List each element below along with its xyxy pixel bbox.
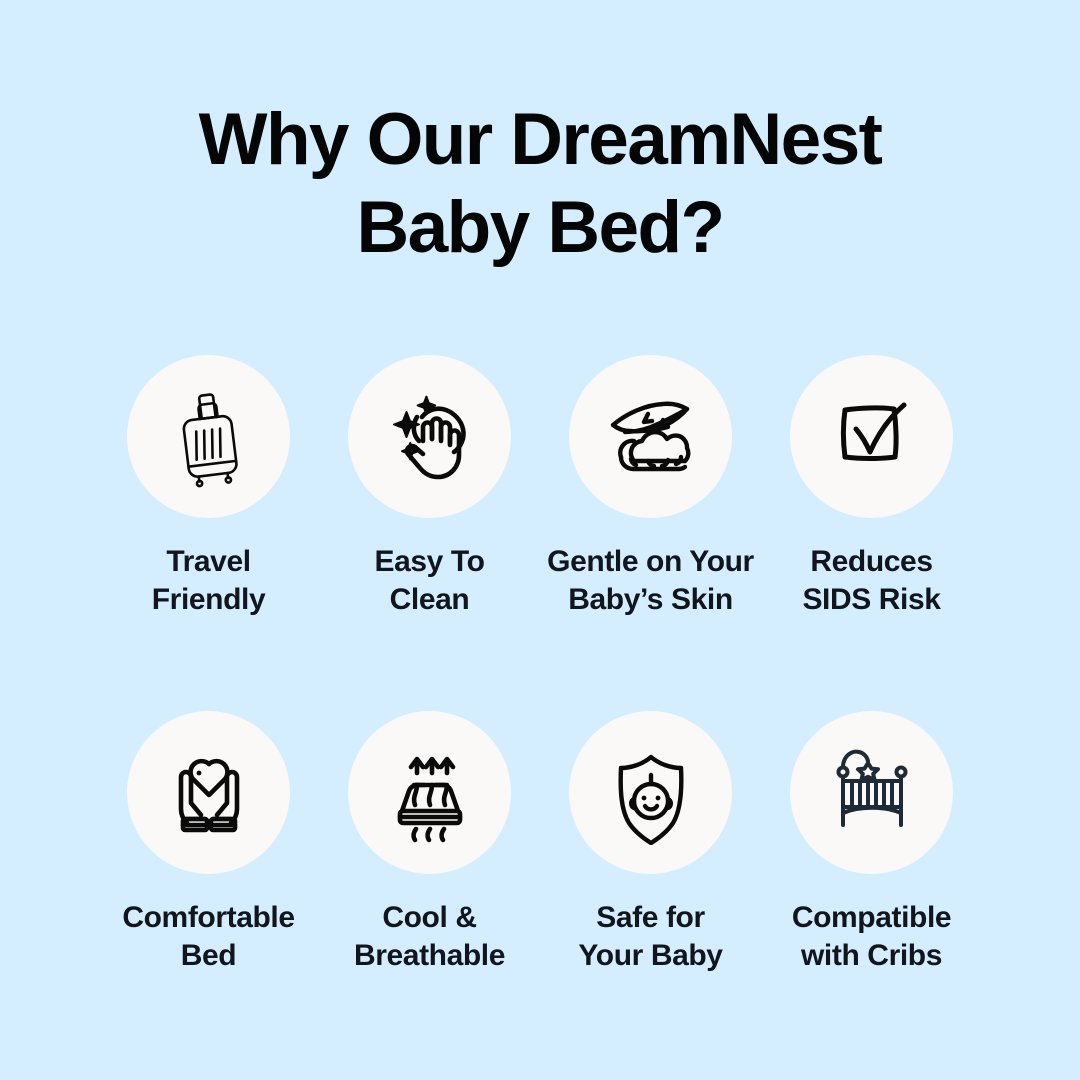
- feature-item-gentle-on-skin: Gentle on Your Baby’s Skin: [540, 355, 761, 600]
- checkbox-check-icon: [820, 385, 924, 489]
- icon-badge: [348, 355, 511, 518]
- feature-label: Gentle on Your Baby’s Skin: [547, 543, 754, 619]
- page-title-line-2: Baby Bed?: [0, 184, 1080, 272]
- icon-badge: [790, 711, 953, 874]
- breathable-mattress-airflow-icon: [378, 741, 482, 845]
- wiping-hand-sparkle-icon: [378, 385, 482, 489]
- feature-label: Safe for Your Baby: [578, 899, 722, 975]
- feather-cloud-icon: [599, 385, 703, 489]
- feature-item-safe-for-baby: Safe for Your Baby: [540, 711, 761, 956]
- page-title-line-1: Why Our DreamNest: [0, 96, 1080, 184]
- suitcase-icon: [157, 385, 261, 489]
- page-title: Why Our DreamNest Baby Bed?: [0, 96, 1080, 273]
- feature-label: Easy To Clean: [374, 543, 484, 619]
- icon-badge: [348, 711, 511, 874]
- feature-item-cool-breathable: Cool & Breathable: [319, 711, 540, 956]
- feature-label: Comfortable Bed: [122, 899, 294, 975]
- feature-label: Travel Friendly: [152, 543, 266, 619]
- promo-poster: Why Our DreamNest Baby Bed?: [0, 0, 1080, 1080]
- feature-item-reduces-sids-risk: Reduces SIDS Risk: [761, 355, 982, 600]
- icon-badge: [127, 355, 290, 518]
- icon-badge: [569, 711, 732, 874]
- feature-item-easy-to-clean: Easy To Clean: [319, 355, 540, 600]
- crib-icon: [820, 741, 924, 845]
- icon-badge: [127, 711, 290, 874]
- feature-label: Cool & Breathable: [354, 899, 505, 975]
- shield-baby-icon: [599, 741, 703, 845]
- hands-holding-heart-icon: [157, 741, 261, 845]
- icon-badge: [790, 355, 953, 518]
- feature-label: Compatible with Cribs: [792, 899, 951, 975]
- icon-badge: [569, 355, 732, 518]
- feature-item-comfortable-bed: Comfortable Bed: [98, 711, 319, 956]
- feature-item-travel-friendly: Travel Friendly: [98, 355, 319, 600]
- feature-grid: Travel Friendly: [0, 355, 1080, 956]
- feature-label: Reduces SIDS Risk: [802, 543, 940, 619]
- feature-item-compatible-with-cribs: Compatible with Cribs: [761, 711, 982, 956]
